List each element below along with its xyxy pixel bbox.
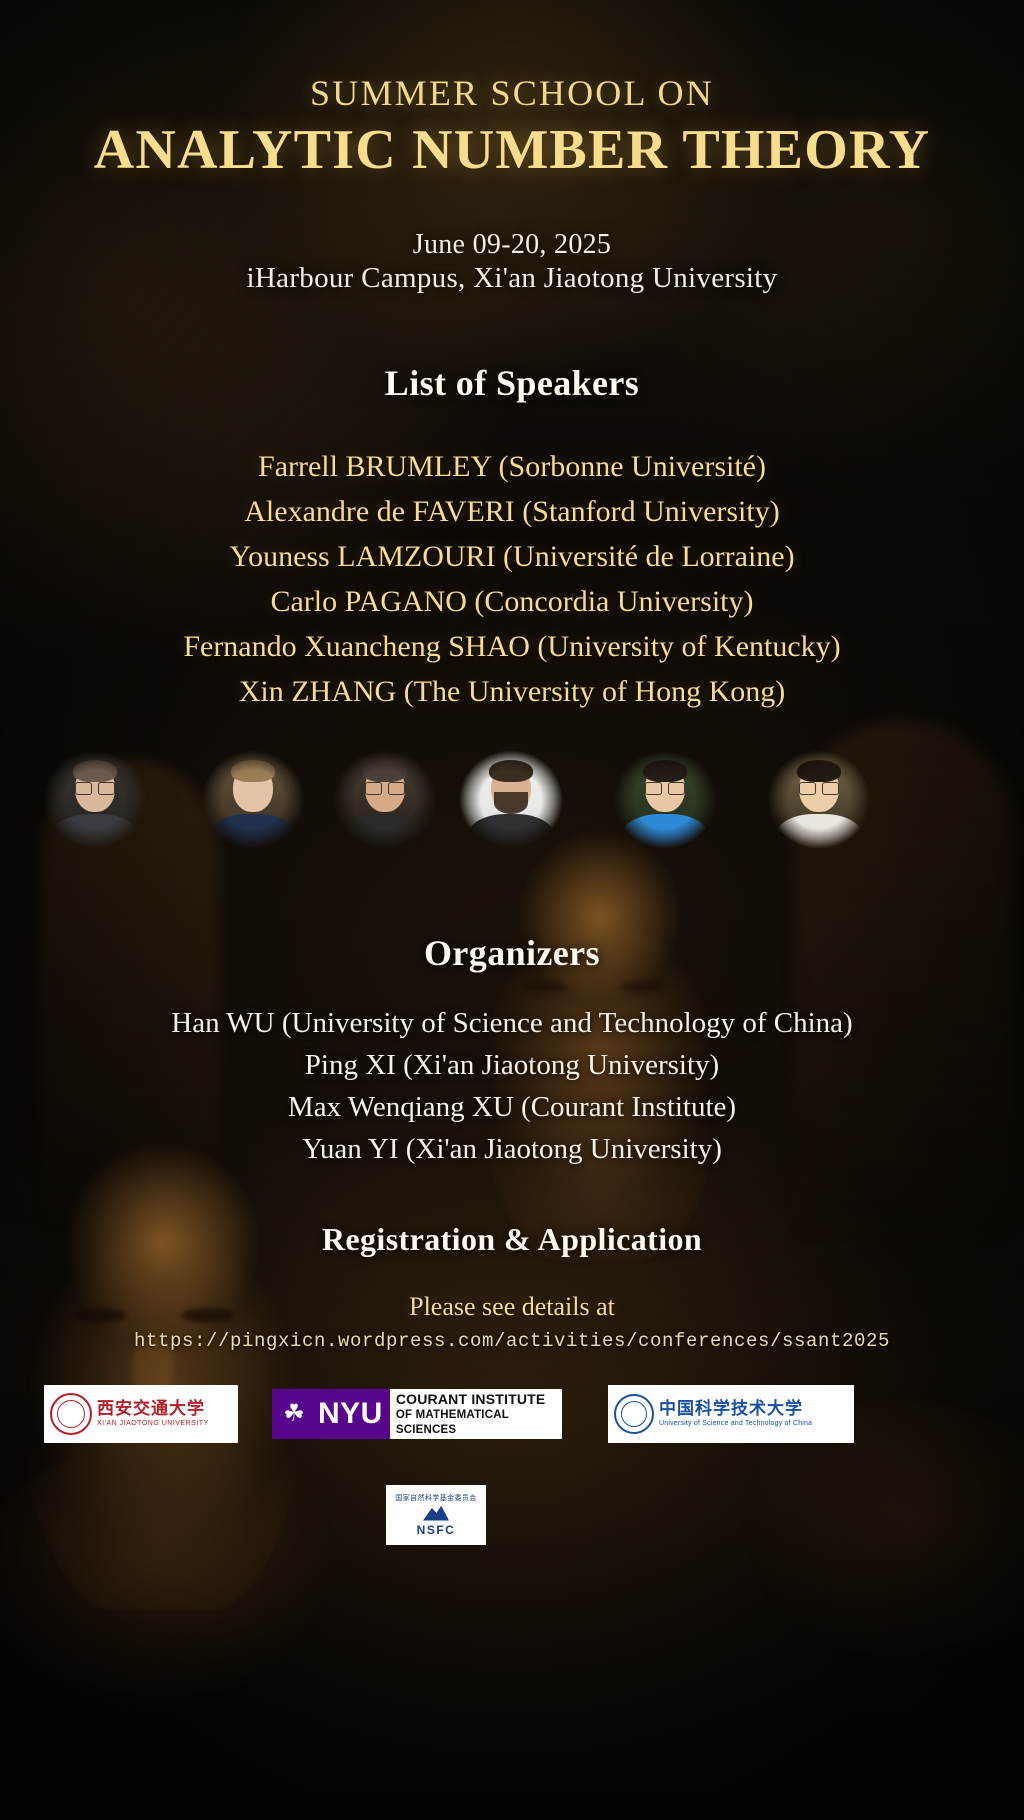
event-date: June 09-20, 2025 — [0, 229, 1024, 261]
mountain-icon — [423, 1505, 449, 1521]
courant-line-2: OF MATHEMATICAL SCIENCES — [396, 1408, 556, 1438]
speaker-portrait-zhang — [760, 748, 878, 860]
xjtu-name-en: XI'AN JIAOTONG UNIVERSITY — [97, 1419, 232, 1429]
speaker-item: Farrell BRUMLEY (Sorbonne Université) — [258, 444, 766, 489]
courant-text-block: COURANT INSTITUTE OF MATHEMATICAL SCIENC… — [390, 1389, 562, 1439]
registration-heading: Registration & Application — [0, 1221, 1024, 1258]
logo-xjtu: 西安交通大学 XI'AN JIAOTONG UNIVERSITY — [44, 1385, 238, 1443]
portrait-torso — [342, 814, 428, 860]
nsfc-name-en: NSFC — [417, 1523, 456, 1537]
portrait-beard — [494, 792, 528, 814]
portrait-hair — [73, 760, 117, 782]
xjtu-seal-icon — [50, 1393, 92, 1435]
registration-note: Please see details at — [0, 1292, 1024, 1322]
organizer-item: Yuan YI (Xi'an Jiaotong University) — [302, 1128, 722, 1170]
speaker-item: Youness LAMZOURI (Université de Lorraine… — [229, 534, 794, 579]
organizers-heading: Organizers — [0, 932, 1024, 974]
poster-kicker: SUMMER SCHOOL ON — [0, 72, 1024, 114]
portrait-image — [606, 748, 724, 860]
portrait-image — [760, 748, 878, 860]
portrait-glasses — [799, 782, 839, 793]
organizers-list: Han WU (University of Science and Techno… — [0, 1002, 1024, 1170]
speaker-item: Fernando Xuancheng SHAO (University of K… — [183, 624, 840, 669]
poster-content: SUMMER SCHOOL ON ANALYTIC NUMBER THEORY … — [0, 0, 1024, 1820]
nsfc-name-cn: 国家自然科学基金委员会 — [395, 1494, 476, 1503]
speaker-item: Carlo PAGANO (Concordia University) — [270, 579, 753, 624]
portrait-torso — [468, 814, 554, 860]
organizer-item: Han WU (University of Science and Techno… — [171, 1002, 852, 1044]
portrait-hair — [231, 760, 275, 782]
speaker-portrait-de-faveri — [194, 748, 312, 860]
portrait-glasses — [75, 782, 115, 793]
speaker-portrait-brumley — [36, 748, 154, 860]
portrait-torso — [622, 814, 708, 860]
portrait-hair — [489, 760, 533, 782]
ustc-text-block: 中国科学技术大学 University of Science and Techn… — [659, 1399, 848, 1429]
ustc-seal-icon — [614, 1394, 654, 1434]
portrait-image — [194, 748, 312, 860]
sponsor-logos-row: 西安交通大学 XI'AN JIAOTONG UNIVERSITY ☘ NYU C… — [0, 1385, 1024, 1455]
poster-title: ANALYTIC NUMBER THEORY — [0, 118, 1024, 182]
portrait-hair — [797, 760, 841, 782]
speaker-item: Alexandre de FAVERI (Stanford University… — [244, 489, 779, 534]
portrait-torso — [52, 814, 138, 860]
portrait-hair — [363, 760, 407, 782]
speaker-portrait-pagano — [452, 748, 570, 860]
portrait-image — [452, 748, 570, 860]
speaker-portrait-shao — [606, 748, 724, 860]
organizer-item: Max Wenqiang XU (Courant Institute) — [288, 1086, 736, 1128]
ustc-name-cn: 中国科学技术大学 — [659, 1399, 848, 1419]
portrait-glasses — [365, 782, 405, 793]
logo-nyu-courant: ☘ NYU COURANT INSTITUTE OF MATHEMATICAL … — [272, 1389, 562, 1439]
logo-nsfc: 国家自然科学基金委员会 NSFC — [386, 1485, 486, 1545]
event-venue: iHarbour Campus, Xi'an Jiaotong Universi… — [0, 262, 1024, 295]
portrait-hair — [643, 760, 687, 782]
organizer-item: Ping XI (Xi'an Jiaotong University) — [305, 1044, 719, 1086]
courant-line-1: COURANT INSTITUTE — [396, 1391, 556, 1408]
portrait-torso — [210, 814, 296, 860]
speaker-portraits-row — [0, 748, 1024, 866]
ustc-name-en: University of Science and Technology of … — [659, 1419, 848, 1429]
portrait-glasses — [645, 782, 685, 793]
speakers-list: Farrell BRUMLEY (Sorbonne Université) Al… — [0, 444, 1024, 714]
nyu-wordmark: NYU — [316, 1389, 390, 1439]
xjtu-text-block: 西安交通大学 XI'AN JIAOTONG UNIVERSITY — [97, 1399, 232, 1429]
logo-ustc: 中国科学技术大学 University of Science and Techn… — [608, 1385, 854, 1443]
registration-url[interactable]: https://pingxicn.wordpress.com/activitie… — [0, 1330, 1024, 1352]
portrait-image — [326, 748, 444, 860]
portrait-torso — [776, 814, 862, 860]
torch-icon: ☘ — [272, 1389, 316, 1439]
xjtu-name-cn: 西安交通大学 — [97, 1399, 232, 1419]
speaker-portrait-lamzouri — [326, 748, 444, 860]
speaker-item: Xin ZHANG (The University of Hong Kong) — [239, 669, 786, 714]
speakers-heading: List of Speakers — [0, 362, 1024, 404]
portrait-image — [36, 748, 154, 860]
